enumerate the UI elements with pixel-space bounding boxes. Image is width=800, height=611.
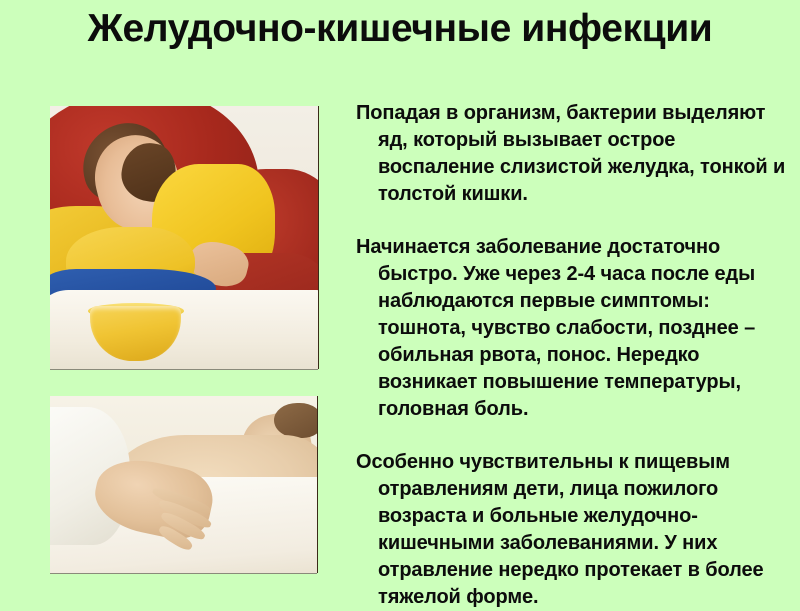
slide-root: Желудочно-кишечные инфекции bbox=[0, 0, 800, 600]
sick-child-photo bbox=[50, 106, 318, 369]
patient-head bbox=[274, 403, 317, 438]
mattress bbox=[50, 290, 318, 369]
paragraph-risk-groups: Особенно чувствительны к пищевым отравле… bbox=[338, 449, 788, 611]
abdominal-palpation-photo bbox=[50, 396, 317, 573]
page-title: Желудочно-кишечные инфекции bbox=[0, 8, 800, 50]
abdominal-palpation-photo-content bbox=[50, 396, 317, 573]
paragraph-intro: Попадая в организм, бактерии выделяют яд… bbox=[338, 100, 788, 208]
sick-child-photo-content bbox=[50, 106, 318, 369]
paragraph-symptoms: Начинается заболевание достаточно быстро… bbox=[338, 234, 788, 423]
body-text-column: Попадая в организм, бактерии выделяют яд… bbox=[338, 100, 788, 611]
